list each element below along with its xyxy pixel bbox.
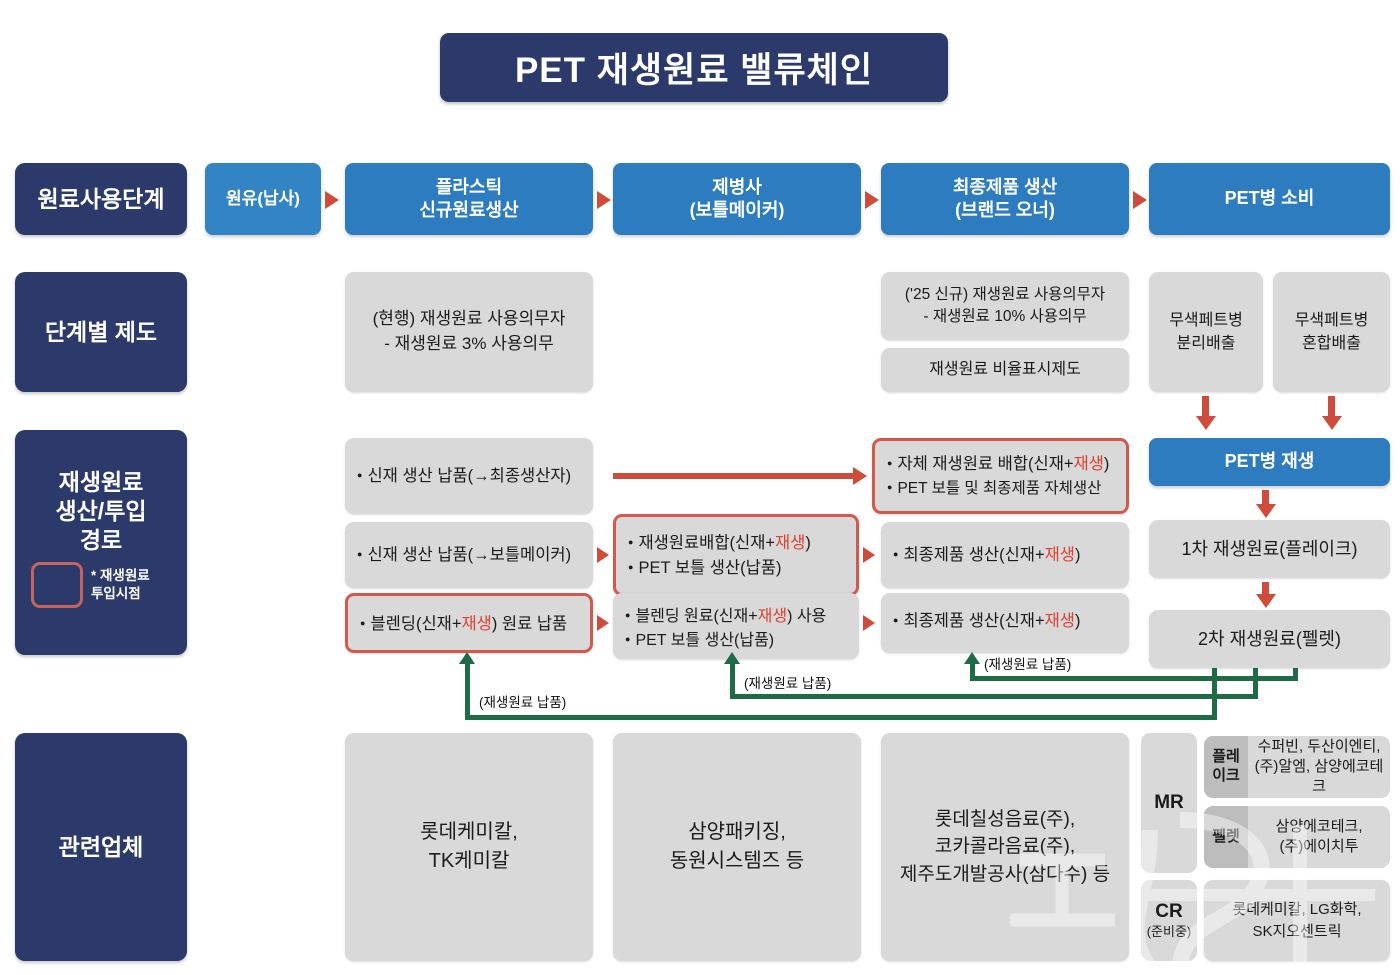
- row-label-companies: 관련업체: [15, 733, 187, 961]
- company-tag-cr: CR (준비중): [1141, 880, 1197, 961]
- company-tag-cr-sub: (준비중): [1147, 924, 1192, 940]
- stage-box-crude[interactable]: 원유(납사): [205, 163, 321, 235]
- company-bottler-line2: 동원시스템즈 등: [670, 847, 804, 876]
- company-box-brandowner[interactable]: 롯데칠성음료(주), 코카콜라음료(주), 제주도개발공사(삼다수) 등: [881, 733, 1129, 961]
- arrow-stage-2: [597, 191, 611, 209]
- arrow-r2-1: [597, 547, 609, 563]
- arrow-head-recycle-2: [1256, 594, 1276, 608]
- route-r3-blending-supply[interactable]: 블렌딩(신재+재생) 원료 납품: [345, 593, 593, 653]
- company-box-flake[interactable]: 수퍼빈, 두산이엔티, (주)알엠, 삼양에코테크: [1248, 736, 1390, 798]
- company-plastic-line2: TK케미칼: [429, 847, 510, 876]
- feedback-arrow-a: [964, 652, 980, 664]
- route-r2-blend-item1: 재생원료배합(신재+재생): [628, 531, 844, 556]
- diagram-canvas: PET 재생원료 밸류체인 원료사용단계 원유(납사) 플라스틱 신규원료생산 …: [0, 0, 1400, 974]
- policy-box-brand-labeling[interactable]: 재생원료 비율표시제도: [881, 348, 1129, 392]
- arrow-shaft-separate: [1202, 396, 1209, 418]
- arrow-stage-4: [1133, 191, 1147, 209]
- feedback-line-c-riser: [465, 662, 470, 720]
- route-r3-blend-item1: 블렌딩 원료(신재+재생) 사용: [625, 605, 847, 629]
- company-subtag-flake-line1: 플레: [1212, 748, 1240, 767]
- stage-box-bottler-line1: 제병사: [712, 176, 762, 199]
- policy-box-separate-discharge[interactable]: 무색페트병 분리배출: [1149, 272, 1263, 392]
- legend-line1: * 재생원료: [91, 567, 150, 585]
- company-bottler-line1: 삼양패키징,: [688, 818, 786, 847]
- feedback-line-b-horizontal: [730, 694, 1258, 699]
- route-r1-inhouse-blend-item1: 자체 재생원료 배합(신재+재생): [887, 452, 1114, 477]
- policy-brand-line2: - 재생원료 10% 사용의무: [923, 306, 1086, 328]
- arrow-head-separate: [1196, 416, 1216, 430]
- stage-box-plastic-line2: 신규원료생산: [419, 199, 518, 222]
- route-label-line3: 경로: [80, 526, 122, 555]
- company-subtag-flake: 플레 이크: [1204, 736, 1248, 798]
- policy-separate-line1: 무색페트병: [1169, 309, 1243, 332]
- route-label-line1: 재생원료: [59, 468, 144, 497]
- route-r2-blend-item2: PET 보틀 생산(납품): [628, 556, 844, 581]
- arrow-head-r1-long: [853, 467, 867, 485]
- feedback-line-a-riser: [970, 662, 975, 680]
- stage-box-bottler[interactable]: 제병사 (보틀메이커): [613, 163, 861, 235]
- page-title: PET 재생원료 밸류체인: [440, 33, 948, 102]
- arrow-head-recycle-1: [1256, 504, 1276, 518]
- row-label-stage: 원료사용단계: [15, 163, 187, 235]
- policy-box-plastic[interactable]: (현행) 재생원료 사용의무자 - 재생원료 3% 사용의무: [345, 272, 593, 392]
- arrow-r3-1: [597, 615, 609, 631]
- route-r1-inhouse-blend[interactable]: 자체 재생원료 배합(신재+재생) PET 보틀 및 최종제품 자체생산: [872, 438, 1129, 514]
- route-r3-final-product[interactable]: 최종제품 생산(신재+재생): [881, 593, 1129, 653]
- recycle-box-pellet[interactable]: 2차 재생원료(펠렛): [1149, 610, 1390, 668]
- stage-box-plastic[interactable]: 플라스틱 신규원료생산: [345, 163, 593, 235]
- company-tag-mr: MR: [1141, 733, 1197, 873]
- company-subtag-flake-line2: 이크: [1212, 767, 1240, 786]
- feedback-label-b: (재생원료 납품): [744, 672, 831, 692]
- recycle-box-flake[interactable]: 1차 재생원료(플레이크): [1149, 520, 1390, 578]
- stage-box-brandowner-line2: (브랜드 오너): [955, 199, 1055, 222]
- arrow-stage-3: [865, 191, 879, 209]
- route-r2-supply-bottler[interactable]: 신재 생산 납품(→보틀메이커): [345, 522, 593, 588]
- legend-text: * 재생원료 투입시점: [91, 567, 150, 602]
- route-r2-final-item1: 최종제품 생산(신재+재생): [893, 543, 1117, 568]
- policy-box-brand-mandate[interactable]: ('25 신규) 재생원료 사용의무자 - 재생원료 10% 사용의무: [881, 272, 1129, 340]
- policy-plastic-line2: - 재생원료 3% 사용의무: [384, 332, 554, 357]
- company-pellet-line2: (주)에이치투: [1280, 837, 1359, 857]
- route-r1-supply-final-item: 신재 생산 납품(→최종생산자): [357, 464, 581, 489]
- arrow-shaft-mixed: [1328, 396, 1335, 418]
- company-brand-line3: 제주도개발공사(삼다수) 등: [900, 861, 1110, 889]
- company-box-plastic[interactable]: 롯데케미칼, TK케미칼: [345, 733, 593, 961]
- route-label-line2: 생산/투입: [55, 497, 146, 526]
- stage-box-brandowner[interactable]: 최종제품 생산 (브랜드 오너): [881, 163, 1129, 235]
- row-label-policy: 단계별 제도: [15, 272, 187, 392]
- route-r3-blending-item1: 블렌딩(신재+재생) 원료 납품: [360, 612, 578, 637]
- legend-red-outline-swatch: [31, 562, 83, 608]
- company-plastic-line1: 롯데케미칼,: [420, 818, 518, 847]
- route-r1-inhouse-blend-item2: PET 보틀 및 최종제품 자체생산: [887, 477, 1114, 500]
- policy-box-mixed-discharge[interactable]: 무색페트병 혼합배출: [1273, 272, 1390, 392]
- stage-box-bottler-line2: (보틀메이커): [690, 199, 785, 222]
- route-r2-final-product[interactable]: 최종제품 생산(신재+재생): [881, 522, 1129, 588]
- feedback-line-b-riser: [730, 662, 735, 698]
- route-r3-final-item1: 최종제품 생산(신재+재생): [893, 609, 1117, 634]
- feedback-label-a: (재생원료 납품): [984, 653, 1071, 673]
- company-subtag-pellet: 펠렛: [1204, 806, 1248, 868]
- feedback-arrow-b: [724, 652, 740, 664]
- legend-line2: 투입시점: [91, 585, 150, 603]
- arrow-stage-1: [325, 191, 339, 209]
- route-r3-blend-item2: PET 보틀 생산(납품): [625, 629, 847, 653]
- route-r2-supply-bottler-item: 신재 생산 납품(→보틀메이커): [357, 543, 581, 568]
- policy-separate-line2: 분리배출: [1177, 332, 1236, 355]
- policy-plastic-line1: (현행) 재생원료 사용의무자: [373, 307, 566, 332]
- arrow-head-mixed: [1322, 416, 1342, 430]
- route-r2-blend-bottle[interactable]: 재생원료배합(신재+재생) PET 보틀 생산(납품): [613, 514, 859, 596]
- company-tag-cr-label: CR: [1155, 901, 1182, 924]
- row-label-route: 재생원료 생산/투입 경로 * 재생원료 투입시점: [15, 430, 187, 655]
- policy-mixed-line1: 무색페트병: [1295, 309, 1369, 332]
- company-box-bottler[interactable]: 삼양패키징, 동원시스템즈 등: [613, 733, 861, 961]
- route-r3-blend-bottle[interactable]: 블렌딩 원료(신재+재생) 사용 PET 보틀 생산(납품): [613, 593, 859, 659]
- company-cr-line1: 롯데케미칼, LG화학,: [1232, 899, 1361, 921]
- arrow-r2-2: [863, 547, 875, 563]
- company-box-pellet[interactable]: 삼양에코테크, (주)에이치투: [1248, 806, 1390, 868]
- company-brand-line2: 코카콜라음료(주),: [935, 833, 1075, 861]
- company-pellet-line1: 삼양에코테크,: [1276, 817, 1363, 837]
- stage-box-brandowner-line1: 최종제품 생산: [953, 176, 1057, 199]
- company-box-cr[interactable]: 롯데케미칼, LG화학, SK지오센트릭: [1204, 880, 1390, 961]
- feedback-line-a-horizontal: [970, 676, 1298, 681]
- policy-mixed-line2: 혼합배출: [1302, 332, 1361, 355]
- policy-brand-line1: ('25 신규) 재생원료 사용의무자: [905, 284, 1105, 306]
- company-brand-line1: 롯데칠성음료(주),: [935, 806, 1075, 834]
- recycle-box-head[interactable]: PET병 재생: [1149, 438, 1390, 486]
- company-cr-line2: SK지오센트릭: [1252, 921, 1341, 943]
- feedback-arrow-c: [459, 652, 475, 664]
- stage-box-plastic-line1: 플라스틱: [436, 176, 502, 199]
- route-r1-supply-final[interactable]: 신재 생산 납품(→최종생산자): [345, 438, 593, 514]
- arrow-r3-2: [863, 615, 875, 631]
- feedback-line-c-horizontal: [465, 715, 1217, 720]
- company-flake-line2: (주)알엠, 삼양에코테크: [1248, 757, 1390, 798]
- route-legend: * 재생원료 투입시점: [31, 562, 173, 608]
- arrow-shaft-r1-long: [613, 473, 853, 479]
- stage-box-consumption[interactable]: PET병 소비: [1149, 163, 1390, 235]
- feedback-label-c: (재생원료 납품): [479, 691, 566, 711]
- company-flake-line1: 수퍼빈, 두산이엔티,: [1258, 737, 1381, 757]
